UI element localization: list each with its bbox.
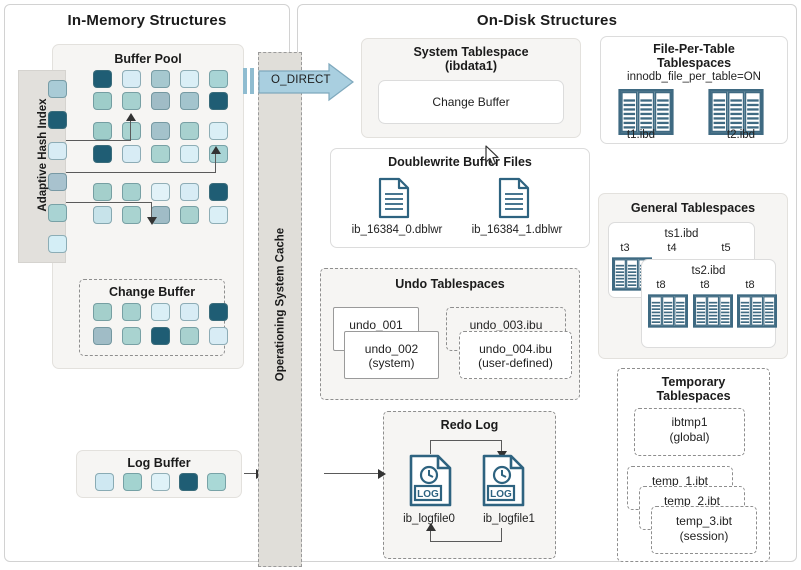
redo-bottom-left-riser	[430, 530, 431, 542]
buffer-pool-page-5-0	[93, 206, 112, 224]
change-buffer-page-1-0	[93, 327, 112, 345]
doublewrite-file-icon-0	[378, 177, 410, 224]
undo-004-label: undo_004.ibu	[459, 342, 572, 356]
change-buffer-memory-title: Change Buffer	[79, 285, 225, 299]
undo-002-sublabel: (system)	[344, 356, 439, 370]
undo-tablespaces-title: Undo Tablespaces	[320, 277, 580, 291]
doublewrite-file-label-0: ib_16384_0.dblwr	[330, 223, 464, 237]
buffer-pool-page-1-2	[151, 92, 170, 110]
system-tablespace-change-buffer-label: Change Buffer	[378, 95, 564, 109]
change-buffer-page-0-3	[180, 303, 199, 321]
buffer-pool-page-4-3	[180, 183, 199, 201]
buffer-pool-page-0-0	[93, 70, 112, 88]
adaptive-hash-index-page-4	[48, 204, 67, 222]
buffer-pool-page-4-4	[209, 183, 228, 201]
undo-001-label: undo_001	[333, 318, 419, 332]
file-per-table-label-1: t2.ibd	[700, 128, 782, 142]
buffer-pool-page-4-0	[93, 183, 112, 201]
buffer-pool-page-3-2	[151, 145, 170, 163]
diagram-canvas: In-Memory Structures Buffer Pool Change …	[0, 0, 801, 570]
general-tablespaces-title: General Tablespaces	[598, 201, 788, 215]
buffer-pool-page-0-1	[122, 70, 141, 88]
adaptive-hash-index-page-2	[48, 142, 67, 160]
redo-bottom-right-riser	[501, 528, 502, 542]
log-buffer-page-4	[207, 473, 226, 491]
buffer-pool-page-4-2	[151, 183, 170, 201]
file-per-table-setting: innodb_file_per_table=ON	[600, 70, 788, 84]
general-ts2-name: ts2.ibd	[641, 264, 776, 278]
buffer-pool-page-5-4	[209, 206, 228, 224]
buffer-pool-page-1-3	[180, 92, 199, 110]
log-buffer-page-2	[151, 473, 170, 491]
buffer-pool-page-1-4	[209, 92, 228, 110]
buffer-pool-page-0-4	[209, 70, 228, 88]
general-ts2-table-0: t8	[646, 279, 676, 292]
log-buffer-title: Log Buffer	[76, 456, 242, 470]
change-buffer-page-0-0	[93, 303, 112, 321]
redo-log-file-icon-0: LOG	[408, 453, 454, 514]
system-tablespace-title: System Tablespace	[361, 45, 581, 59]
general-ts2-table-1: t8	[690, 279, 720, 292]
ahi-connector-line-2	[66, 172, 216, 173]
ahi-connector-riser-2	[215, 153, 216, 173]
buffer-pool-page-1-1	[122, 92, 141, 110]
ibtmp1-sublabel: (global)	[634, 430, 745, 444]
adaptive-hash-index-page-1	[48, 111, 67, 129]
general-ts2-db-icon-0	[648, 294, 688, 333]
buffer-pool-page-5-3	[180, 206, 199, 224]
file-per-table-title-1: File-Per-Table	[600, 42, 788, 56]
oscache-redo-arrow-head	[378, 469, 386, 479]
undo-004-sublabel: (user-defined)	[459, 356, 572, 370]
buffer-pool-page-2-4	[209, 122, 228, 140]
redo-log-file-icon-1: LOG	[481, 453, 527, 514]
temp-3-label: temp_3.ibt	[651, 514, 757, 528]
adaptive-hash-index-page-0	[48, 80, 67, 98]
temp-3-sublabel: (session)	[651, 529, 757, 543]
ibtmp1-label: ibtmp1	[634, 415, 745, 429]
file-per-table-title-2: Tablespaces	[600, 56, 788, 70]
mouse-cursor	[485, 145, 501, 172]
oscache-redo-arrow-line	[324, 473, 382, 474]
buffer-pool-page-2-0	[93, 122, 112, 140]
buffer-pool-page-2-1	[122, 122, 141, 140]
general-ts1-table-0: t3	[608, 242, 642, 255]
system-tablespace-subtitle: (ibdata1)	[361, 59, 581, 73]
log-buffer-page-1	[123, 473, 142, 491]
o-direct-label: O_DIRECT	[271, 74, 331, 86]
ahi-connector-arrow-3	[147, 217, 157, 225]
doublewrite-file-label-1: ib_16384_1.dblwr	[450, 223, 584, 237]
buffer-pool-title: Buffer Pool	[52, 52, 244, 66]
svg-text:LOG: LOG	[417, 489, 439, 500]
buffer-pool-page-3-3	[180, 145, 199, 163]
general-ts2-db-icon-2	[737, 294, 777, 333]
temporary-tablespaces-title-2: Tablespaces	[617, 389, 770, 403]
general-ts1-table-1: t4	[655, 242, 689, 255]
redo-bottom-line	[430, 541, 502, 542]
doublewrite-file-icon-1	[498, 177, 530, 224]
buffer-pool-page-1-0	[93, 92, 112, 110]
buffer-pool-page-3-0	[93, 145, 112, 163]
buffer-pool-page-0-2	[151, 70, 170, 88]
buffer-pool-page-5-1	[122, 206, 141, 224]
operating-system-cache-label: Operationing System Cache	[275, 185, 288, 425]
redo-log-file-label-0: ib_logfile0	[383, 512, 475, 526]
temporary-tablespaces-title-1: Temporary	[617, 375, 770, 389]
operating-system-cache-column: Operationing System Cache	[258, 52, 302, 567]
svg-text:LOG: LOG	[490, 489, 512, 500]
adaptive-hash-index-page-5	[48, 235, 67, 253]
adaptive-hash-index-page-3	[48, 173, 67, 191]
ahi-connector-arrow-1	[126, 113, 136, 121]
change-buffer-page-1-1	[122, 327, 141, 345]
file-per-table-label-0: t1.ibd	[600, 128, 682, 142]
redo-log-title: Redo Log	[383, 418, 556, 432]
general-ts2-table-2: t8	[735, 279, 765, 292]
general-ts1-name: ts1.ibd	[608, 227, 755, 241]
general-ts2-db-icon-1	[693, 294, 733, 333]
ahi-connector-arrow-2	[211, 146, 221, 154]
undo-003-label: undo_003.ibu	[446, 318, 566, 332]
redo-top-left-riser	[430, 440, 431, 454]
in-memory-title: In-Memory Structures	[5, 12, 289, 29]
change-buffer-page-0-1	[122, 303, 141, 321]
change-buffer-page-1-2	[151, 327, 170, 345]
on-disk-title: On-Disk Structures	[298, 12, 796, 29]
change-buffer-page-0-4	[209, 303, 228, 321]
redo-top-line	[430, 440, 502, 441]
o-direct-arrow: O_DIRECT	[243, 62, 363, 102]
ahi-connector-line-3	[66, 202, 152, 203]
change-buffer-page-1-4	[209, 327, 228, 345]
ahi-connector-drop-3	[151, 202, 152, 218]
buffer-pool-page-4-1	[122, 183, 141, 201]
doublewrite-buffer-title: Doublewrite Buffer Files	[330, 155, 590, 169]
change-buffer-page-1-3	[180, 327, 199, 345]
redo-log-file-label-1: ib_logfile1	[463, 512, 555, 526]
buffer-pool-page-2-2	[151, 122, 170, 140]
undo-002-label: undo_002	[344, 342, 439, 356]
log-buffer-page-0	[95, 473, 114, 491]
general-ts1-table-2: t5	[709, 242, 743, 255]
buffer-pool-page-3-1	[122, 145, 141, 163]
buffer-pool-page-0-3	[180, 70, 199, 88]
change-buffer-page-0-2	[151, 303, 170, 321]
buffer-pool-page-2-3	[180, 122, 199, 140]
log-buffer-page-3	[179, 473, 198, 491]
ahi-connector-riser-1	[130, 120, 131, 141]
ahi-connector-line-1	[66, 140, 131, 141]
